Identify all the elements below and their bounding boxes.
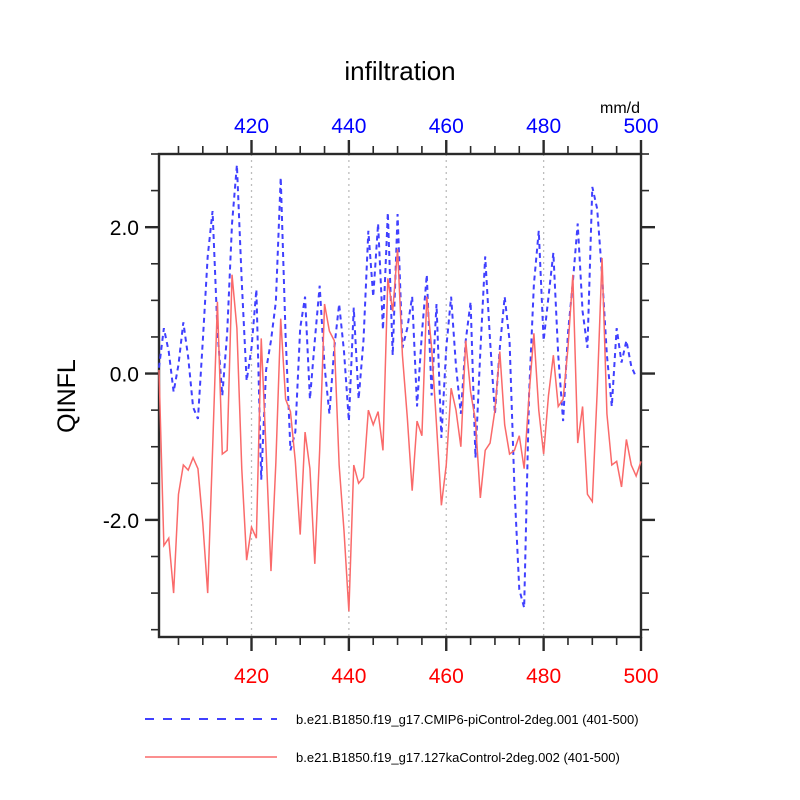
top-tick-label-420: 420 — [234, 115, 269, 138]
chart-legend: b.e21.B1850.f19_g17.CMIP6-piControl-2deg… — [145, 712, 639, 765]
top-tick-label-460: 460 — [429, 115, 464, 138]
plot-frame — [159, 154, 641, 637]
series-line-1 — [159, 249, 641, 611]
y-tick-label-2.0: 2.0 — [110, 217, 139, 240]
top-tick-label-500: 500 — [623, 115, 658, 138]
chart-canvas: infiltration mm/d 420440460480500 420440… — [0, 0, 800, 800]
axis-tickmarks — [145, 140, 655, 651]
legend-label-0: b.e21.B1850.f19_g17.CMIP6-piControl-2deg… — [296, 712, 639, 727]
legend-label-1: b.e21.B1850.f19_g17.127kaControl-2deg.00… — [296, 750, 620, 765]
y-axis-label: QINFL — [53, 359, 81, 433]
gridlines — [252, 154, 544, 637]
y-tick-label--2.0: -2.0 — [103, 510, 139, 533]
data-series-group — [159, 165, 641, 611]
y-axis-tick-labels: 2.00.0-2.0 — [103, 217, 139, 533]
top-axis-tick-labels: 420440460480500 — [234, 115, 659, 138]
infiltration-line-chart: infiltration mm/d 420440460480500 420440… — [0, 0, 800, 800]
y-tick-label-0.0: 0.0 — [110, 364, 139, 387]
bottom-tick-label-420: 420 — [234, 665, 269, 688]
bottom-tick-label-460: 460 — [429, 665, 464, 688]
bottom-tick-label-480: 480 — [526, 665, 561, 688]
page-title: infiltration — [344, 56, 455, 86]
bottom-tick-label-440: 440 — [331, 665, 366, 688]
top-tick-label-440: 440 — [331, 115, 366, 138]
bottom-tick-label-500: 500 — [623, 665, 658, 688]
bottom-axis-tick-labels: 420440460480500 — [234, 665, 659, 688]
top-tick-label-480: 480 — [526, 115, 561, 138]
